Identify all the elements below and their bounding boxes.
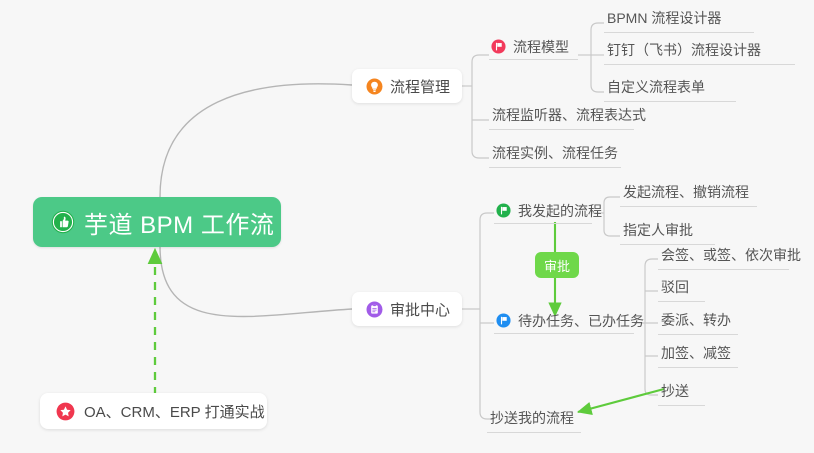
star-icon bbox=[56, 402, 75, 421]
clipboard-icon bbox=[366, 301, 383, 318]
flag-blue-icon bbox=[496, 313, 511, 328]
link-model-to-bpmn bbox=[591, 23, 604, 30]
link-mystarted-to-initiate bbox=[604, 197, 620, 203]
arrow-cc-to-ccmyflow bbox=[578, 389, 664, 412]
link-root-to-approval-center bbox=[160, 246, 352, 317]
link-pm-to-model bbox=[472, 55, 489, 62]
branch-label-approval-center: 审批中心 bbox=[390, 299, 450, 320]
leaf-countersign[interactable]: 会签、或签、依次审批 bbox=[658, 245, 789, 270]
link-mystarted-to-assignee bbox=[604, 230, 620, 236]
flag-green-icon bbox=[496, 203, 511, 218]
tag-label: 审批 bbox=[544, 256, 570, 275]
root-node[interactable]: 芋道 BPM 工作流 bbox=[33, 197, 281, 247]
leaf-reject[interactable]: 驳回 bbox=[658, 277, 705, 302]
flag-red-icon bbox=[491, 39, 506, 54]
node-label-my-started-flows: 我发起的流程 bbox=[518, 201, 602, 221]
node-todo-done-tasks[interactable]: 待办任务、已办任务 bbox=[494, 312, 634, 334]
leaf-delegate-transfer[interactable]: 委派、转办 bbox=[658, 310, 738, 335]
node-process-model[interactable]: 流程模型 bbox=[489, 38, 578, 60]
link-tododone-to-countersign bbox=[645, 259, 658, 266]
branch-label-process-management: 流程管理 bbox=[390, 76, 450, 97]
node-process-listener[interactable]: 流程监听器、流程表达式 bbox=[489, 105, 634, 130]
node-process-instance[interactable]: 流程实例、流程任务 bbox=[489, 143, 621, 168]
node-label-process-model: 流程模型 bbox=[513, 37, 569, 57]
branch-node-approval-center[interactable]: 审批中心 bbox=[352, 292, 462, 326]
leaf-bpmn-designer[interactable]: BPMN 流程设计器 bbox=[604, 8, 754, 33]
link-model-to-customform bbox=[591, 85, 604, 92]
node-my-started-flows[interactable]: 我发起的流程 bbox=[494, 202, 592, 224]
leaf-custom-form[interactable]: 自定义流程表单 bbox=[604, 77, 736, 102]
link-tododone-to-cc bbox=[645, 389, 658, 395]
leaf-carbon-copy[interactable]: 抄送 bbox=[658, 381, 705, 406]
node-cc-to-me-flows[interactable]: 抄送我的流程 bbox=[487, 408, 581, 433]
note-node-integration[interactable]: OA、CRM、ERP 打通实战 bbox=[40, 393, 267, 429]
link-root-to-process-management bbox=[160, 84, 352, 197]
leaf-assignee-approval[interactable]: 指定人审批 bbox=[620, 220, 715, 245]
link-ac-to-mystarted bbox=[480, 213, 494, 220]
tag-badge-approval[interactable]: 审批 bbox=[535, 252, 579, 278]
leaf-dingtalk-designer[interactable]: 钉钉（飞书）流程设计器 bbox=[604, 40, 795, 65]
leaf-add-remove-sign[interactable]: 加签、减签 bbox=[658, 343, 738, 368]
branch-node-process-management[interactable]: 流程管理 bbox=[352, 69, 462, 103]
thumbs-up-icon bbox=[51, 210, 75, 234]
mindmap-canvas: 芋道 BPM 工作流 流程管理 流程模型 BPMN 流程设计器 钉钉（飞书）流程… bbox=[0, 0, 814, 453]
link-pm-to-instance bbox=[472, 151, 489, 158]
node-label-todo-done-tasks: 待办任务、已办任务 bbox=[518, 311, 644, 331]
root-label: 芋道 BPM 工作流 bbox=[84, 205, 274, 240]
lightbulb-icon bbox=[366, 78, 383, 95]
note-label: OA、CRM、ERP 打通实战 bbox=[84, 401, 265, 422]
leaf-initiate-cancel-flow[interactable]: 发起流程、撤销流程 bbox=[620, 182, 757, 207]
